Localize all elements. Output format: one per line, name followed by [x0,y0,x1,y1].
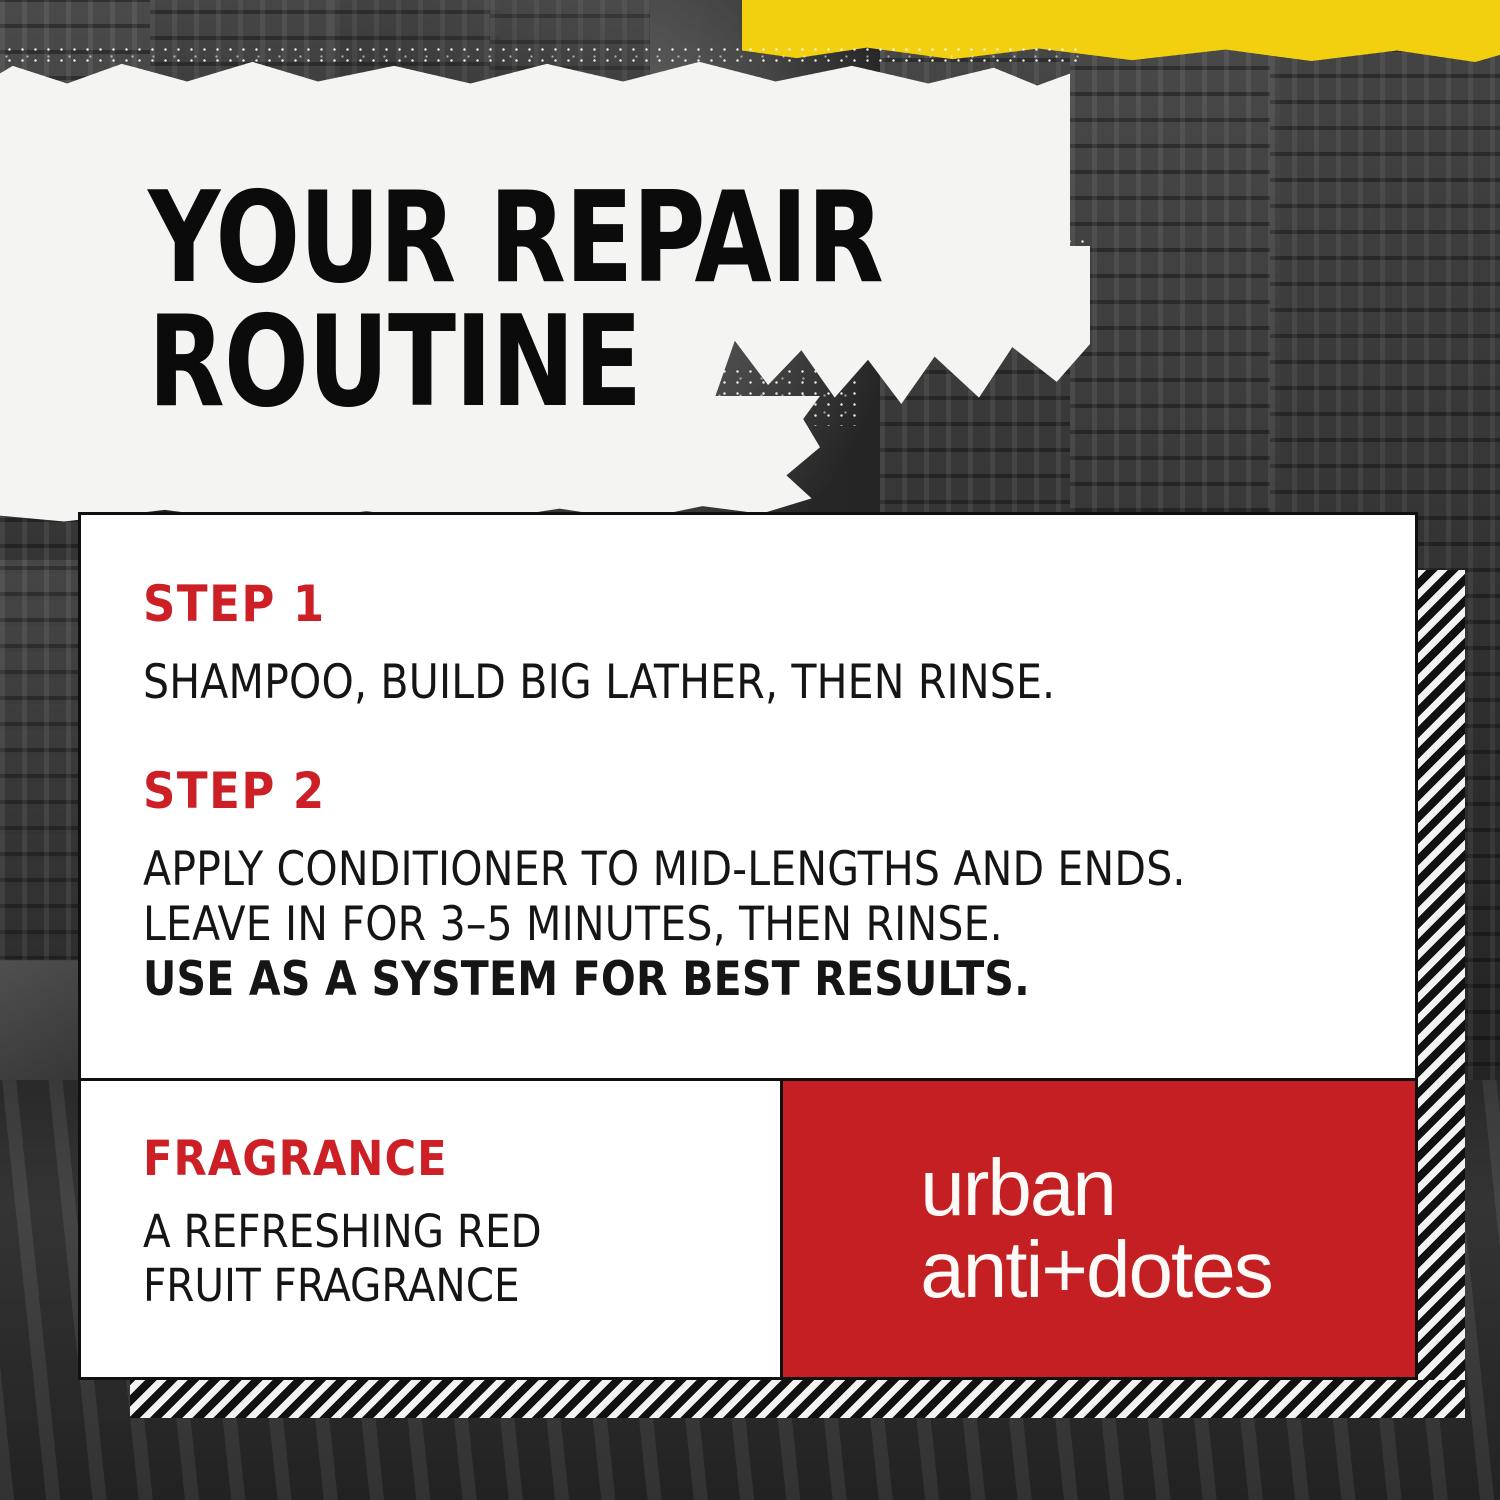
page-title: YOUR REPAIR ROUTINE [148,176,940,423]
step-1-line: SHAMPOO, BUILD BIG LATHER, THEN RINSE. [143,655,1321,710]
brand-logo-line-2: anti+dotes [920,1229,1271,1311]
fragrance-body: A REFRESHING RED FRUIT FRAGRANCE [143,1205,740,1313]
steps-section: STEP 1 SHAMPOO, BUILD BIG LATHER, THEN R… [81,515,1415,1078]
fragrance-line: A REFRESHING RED [143,1205,740,1259]
brand-logo-line-1: urban [920,1143,1115,1232]
step-block: STEP 1 SHAMPOO, BUILD BIG LATHER, THEN R… [143,579,1357,710]
fragrance-section: FRAGRANCE A REFRESHING RED FRUIT FRAGRAN… [81,1081,783,1377]
step-1-body: SHAMPOO, BUILD BIG LATHER, THEN RINSE. [143,655,1321,710]
fragrance-line: FRUIT FRAGRANCE [143,1259,740,1313]
step-2-body: APPLY CONDITIONER TO MID-LENGTHS AND END… [143,842,1321,1007]
striped-edge-right [1418,570,1465,1380]
step-block: STEP 2 APPLY CONDITIONER TO MID-LENGTHS … [143,766,1357,1007]
fragrance-label: FRAGRANCE [143,1135,740,1183]
step-2-line: APPLY CONDITIONER TO MID-LENGTHS AND END… [143,842,1321,897]
step-2-line: LEAVE IN FOR 3–5 MINUTES, THEN RINSE. [143,897,1321,952]
step-2-line-emphasis: USE AS A SYSTEM FOR BEST RESULTS. [143,952,1321,1007]
poster-root: YOUR REPAIR ROUTINE STEP 1 SHAMPOO, BUIL… [0,0,1500,1500]
brand-logo: urban anti+dotes [920,1147,1271,1310]
routine-card: STEP 1 SHAMPOO, BUILD BIG LATHER, THEN R… [78,512,1418,1380]
brand-logo-panel: urban anti+dotes [783,1081,1415,1377]
card-footer: FRAGRANCE A REFRESHING RED FRUIT FRAGRAN… [81,1078,1415,1377]
striped-edge-bottom [130,1380,1465,1418]
paint-speckle [0,44,1080,68]
step-1-label: STEP 1 [143,579,1357,629]
step-2-label: STEP 2 [143,766,1357,816]
